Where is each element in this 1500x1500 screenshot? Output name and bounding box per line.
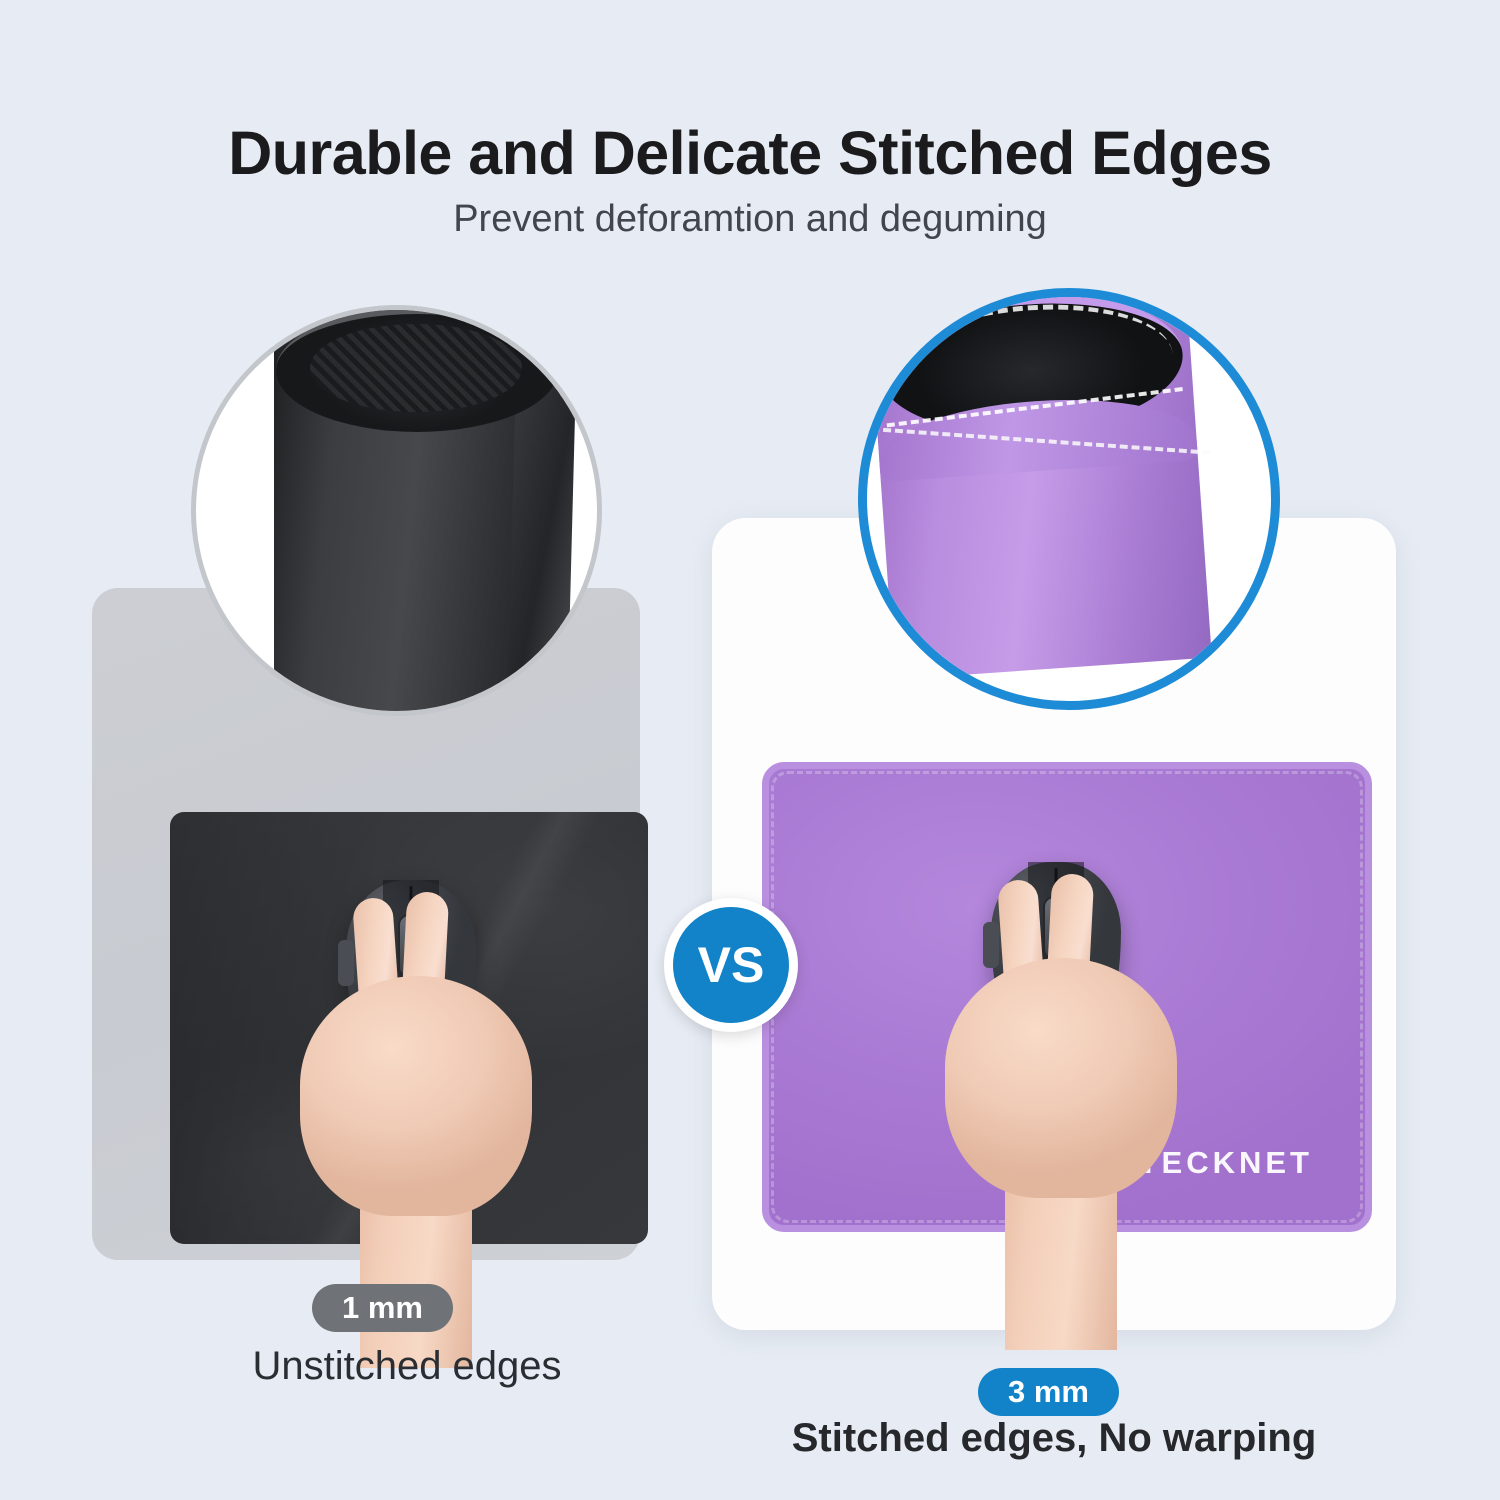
right-mouse-side-button bbox=[983, 922, 999, 968]
unstitched-edge-detail-circle bbox=[191, 305, 602, 716]
right-thickness-badge: 3 mm bbox=[978, 1368, 1119, 1416]
left-thickness-badge: 1 mm bbox=[312, 1284, 453, 1332]
black-pad-weave-texture bbox=[310, 324, 522, 412]
versus-badge: VS bbox=[664, 898, 798, 1032]
right-hand-on-mouse bbox=[945, 862, 1177, 1282]
rolled-black-mousepad bbox=[274, 305, 560, 716]
right-palm bbox=[945, 958, 1177, 1198]
infographic-canvas: Durable and Delicate Stitched Edges Prev… bbox=[0, 0, 1500, 1500]
page-title: Durable and Delicate Stitched Edges bbox=[0, 118, 1500, 188]
left-palm bbox=[300, 976, 532, 1216]
rolled-purple-mousepad bbox=[868, 288, 1212, 680]
right-caption: Stitched edges, No warping bbox=[712, 1416, 1396, 1461]
left-caption: Unstitched edges bbox=[0, 1344, 814, 1389]
left-mouse-side-button bbox=[338, 940, 354, 986]
stitched-edge-detail-circle bbox=[858, 288, 1280, 710]
page-subtitle: Prevent deforamtion and deguming bbox=[0, 198, 1500, 241]
left-hand-on-mouse bbox=[300, 880, 532, 1300]
